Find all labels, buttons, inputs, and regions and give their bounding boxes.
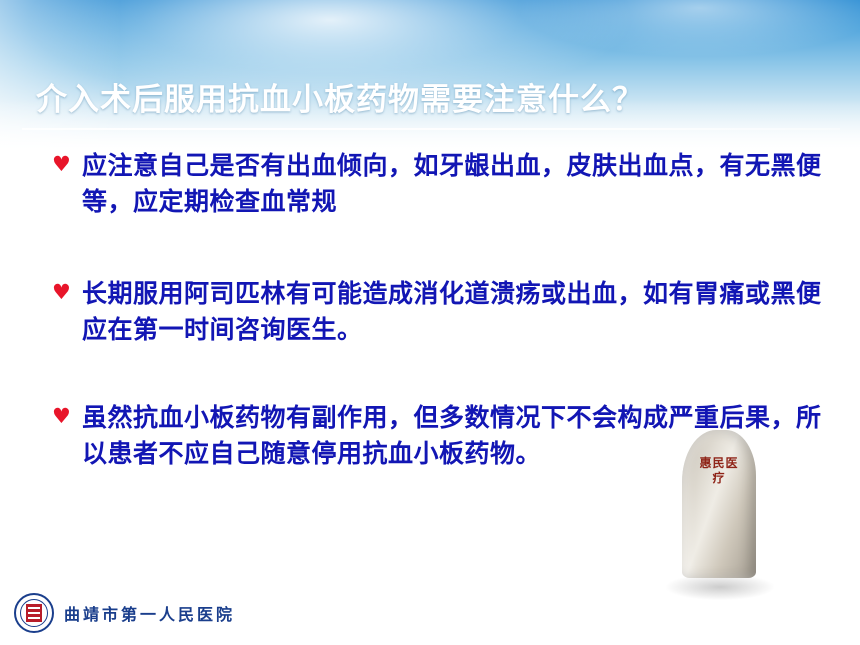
heart-icon: ♥	[52, 405, 74, 427]
stone-body	[682, 430, 756, 578]
stone-inscription: 惠民医疗	[694, 456, 744, 486]
hospital-logo-icon	[14, 593, 54, 633]
heart-icon: ♥	[52, 281, 74, 303]
list-item-text: 应注意自己是否有出血倾向，如牙龈出血，皮肤出血点，有无黑便等，应定期检查血常规	[82, 148, 822, 220]
slide-title: 介入术后服用抗血小板药物需要注意什么？	[36, 80, 836, 120]
slide: 介入术后服用抗血小板药物需要注意什么？ ♥ 应注意自己是否有出血倾向，如牙龈出血…	[0, 0, 860, 645]
footer: 曲靖市第一人民医院	[14, 591, 235, 635]
hospital-logo-emblem	[26, 604, 42, 622]
list-item: ♥ 应注意自己是否有出血倾向，如牙龈出血，皮肤出血点，有无黑便等，应定期检查血常…	[52, 148, 822, 220]
title-divider	[22, 128, 840, 130]
hospital-name: 曲靖市第一人民医院	[64, 601, 235, 625]
list-item-text: 长期服用阿司匹林有可能造成消化道溃疡或出血，如有胃痛或黑便应在第一时间咨询医生。	[82, 276, 822, 348]
list-item: ♥ 长期服用阿司匹林有可能造成消化道溃疡或出血，如有胃痛或黑便应在第一时间咨询医…	[52, 276, 822, 348]
heart-icon: ♥	[52, 153, 74, 175]
stone-monument-image: 惠民医疗	[664, 430, 776, 600]
